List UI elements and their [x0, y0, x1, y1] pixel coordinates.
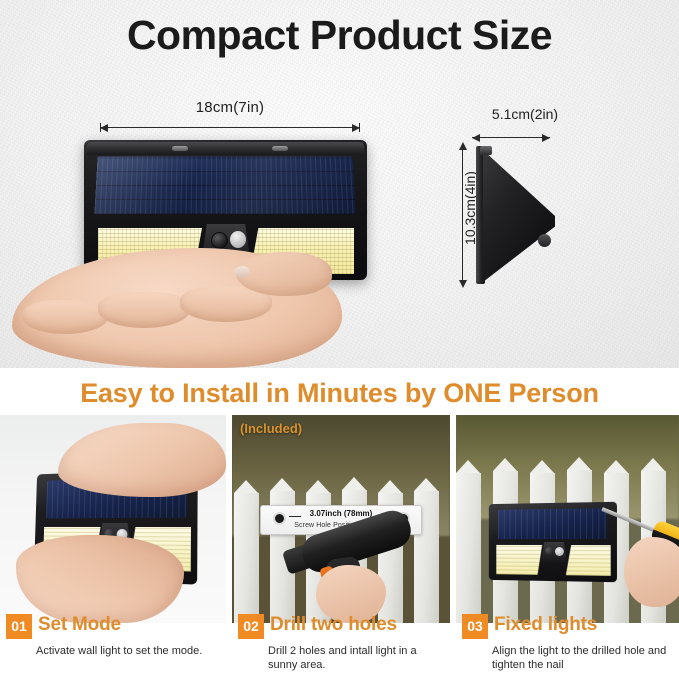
fingernail: [234, 266, 250, 278]
motion-sensor-icon: [230, 231, 246, 248]
included-label: (Included): [240, 421, 302, 436]
solar-panel-sheen: [94, 157, 355, 215]
finger-2: [98, 292, 190, 328]
step-3-title: Fixed lights: [494, 614, 597, 636]
finger-1: [22, 300, 108, 334]
mount-screw-right-icon: [272, 146, 288, 151]
install-steps: 01 Set Mode Activate wall light to set t…: [0, 618, 679, 679]
width-arrow-left-icon: [100, 124, 108, 132]
lamp-top-rail: [87, 142, 364, 155]
solar-panel: [94, 157, 355, 215]
panel1-hand-lower: [16, 535, 184, 623]
depth-dimension-line: [472, 137, 550, 138]
width-dimension-line: [100, 127, 360, 128]
side-knob-icon: [538, 234, 551, 247]
compact-size-section: Compact Product Size 18cm(7in): [0, 0, 679, 368]
step-2-description: Drill 2 holes and intall light in a sunn…: [268, 644, 448, 672]
step-2-number-badge: 02: [238, 614, 264, 639]
install-step-3: 03 Fixed lights Align the light to the d…: [456, 618, 679, 642]
install-image-3: [456, 415, 679, 623]
side-mount-clip: [480, 146, 492, 155]
product-side-view: [476, 146, 554, 284]
install-step-2: 02 Drill two holes Drill 2 holes and int…: [232, 618, 450, 642]
panel3-hand: [624, 537, 679, 607]
install-step-1: 01 Set Mode Activate wall light to set t…: [0, 618, 226, 642]
install-image-1: [0, 415, 226, 623]
page-title: Compact Product Size: [0, 12, 679, 59]
step-1-number-badge: 01: [6, 614, 32, 639]
fence-pale: [234, 493, 259, 623]
depth-arrow-right-icon: [542, 134, 550, 142]
step-3-number-badge: 03: [462, 614, 488, 639]
depth-dimension-label: 5.1cm(2in): [460, 106, 590, 122]
step-1-header: 01 Set Mode: [0, 618, 226, 642]
step-2-title: Drill two holes: [270, 614, 397, 636]
fence-pale: [456, 473, 481, 623]
panel1-hand-upper: [58, 423, 226, 497]
step-3-description: Align the light to the drilled hole and …: [492, 644, 672, 672]
install-image-2: (Included) 3.07inch (78mm) Screw Hole Po…: [232, 415, 450, 623]
panel3-led-right: [566, 545, 611, 576]
step-1-title: Set Mode: [38, 614, 121, 636]
step-1-description: Activate wall light to set the mode.: [36, 644, 221, 658]
panel3-product: [489, 502, 617, 582]
thumb: [236, 252, 332, 296]
step-3-header: 03 Fixed lights: [456, 618, 679, 642]
width-tick-left: [100, 123, 101, 132]
install-title: Easy to Install in Minutes by ONE Person: [0, 378, 679, 409]
panel3-led-left: [496, 545, 542, 575]
mount-screw-left-icon: [172, 146, 188, 151]
light-sensor-icon: [211, 232, 228, 249]
height-arrow-bottom-icon: [459, 280, 467, 288]
panel3-motion-sensor-icon: [555, 547, 564, 556]
side-wedge-body: [483, 150, 555, 282]
panel3-solar-panel: [498, 508, 606, 539]
product-infographic: Compact Product Size 18cm(7in): [0, 0, 679, 679]
install-panels: (Included) 3.07inch (78mm) Screw Hole Po…: [0, 415, 679, 623]
panel3-light-sensor-icon: [545, 547, 553, 555]
step-2-header: 02 Drill two holes: [232, 618, 450, 642]
install-section: Easy to Install in Minutes by ONE Person: [0, 368, 679, 679]
width-tick-right: [359, 123, 360, 132]
width-dimension-label: 18cm(7in): [100, 99, 360, 116]
